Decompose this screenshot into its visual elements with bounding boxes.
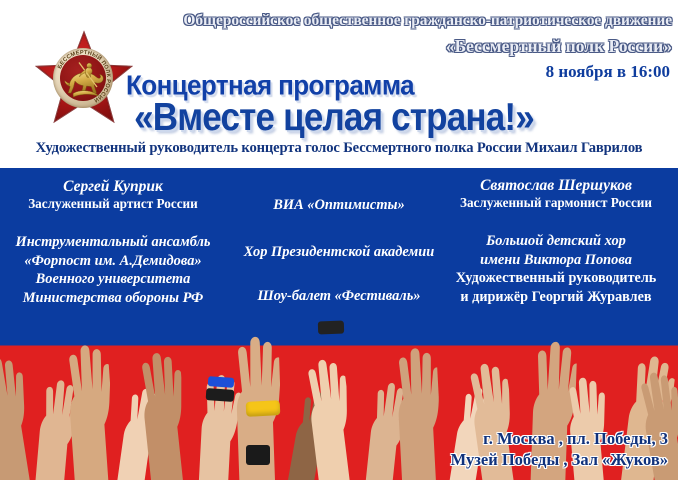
performers-column-right: Святослав Шершуков Заслуженный гармонист… bbox=[434, 168, 678, 305]
black-wristwatch-lower bbox=[246, 445, 270, 465]
artistic-director-subtitle: Художественный руководитель концерта гол… bbox=[0, 140, 678, 157]
performer-role-shershukov: Заслуженный гармонист России bbox=[434, 195, 678, 212]
performer-name-kuprik: Сергей Куприк bbox=[2, 178, 224, 196]
ensemble-forpost-line3: Военного университета bbox=[2, 270, 224, 289]
performer-presidential-academy-choir: Хор Президентской академии bbox=[224, 243, 454, 262]
performer-role-kuprik: Заслуженный артист России bbox=[2, 196, 224, 213]
ensemble-forpost: Инструментальный ансамбль «Форпост им. А… bbox=[2, 233, 224, 305]
black-wristband bbox=[206, 388, 235, 402]
performers-column-left: Сергей Куприк Заслуженный артист России … bbox=[2, 168, 224, 305]
yellow-wristband bbox=[246, 400, 281, 417]
venue-address-line2: Музей Победы , Зал «Жуков» bbox=[451, 450, 668, 470]
blue-wristband bbox=[208, 376, 235, 388]
performers-band: Сергей Куприк Заслуженный артист России … bbox=[0, 168, 678, 305]
raised-hand bbox=[382, 339, 444, 480]
performer-via-optimisty: ВИА «Оптимисты» bbox=[224, 196, 454, 215]
ensemble-forpost-line1: Инструментальный ансамбль bbox=[2, 233, 224, 252]
childrens-choir-line2: имени Виктора Попова bbox=[434, 251, 678, 270]
black-watch bbox=[318, 321, 344, 335]
performers-column-middle: ВИА «Оптимисты» Хор Президентской академ… bbox=[224, 168, 454, 305]
childrens-choir-conductor-line2: и дирижёр Георгий Журавлев bbox=[434, 288, 678, 305]
performer-show-ballet-festival: Шоу-балет «Фестиваль» bbox=[224, 287, 454, 305]
ensemble-forpost-line2: «Форпост им. А.Демидова» bbox=[2, 252, 224, 271]
childrens-choir-conductor-line1: Художественный руководитель bbox=[434, 269, 678, 287]
raised-hand bbox=[51, 334, 118, 480]
event-date-time: 8 ноября в 16:00 bbox=[546, 62, 670, 82]
childrens-choir-popov: Большой детский хор имени Виктора Попова bbox=[434, 232, 678, 269]
concert-title-line2: «Вместе целая страна!» bbox=[0, 96, 668, 140]
childrens-choir-conductor: Художественный руководитель и дирижёр Ге… bbox=[434, 269, 678, 305]
ensemble-forpost-line4: Министерства обороны РФ bbox=[2, 289, 224, 305]
movement-name-line1: Общероссийское общественное гражданско-п… bbox=[183, 12, 672, 30]
poster-header: БЕССМЕРТНЫЙ ПОЛК РОССИИ bbox=[0, 0, 678, 168]
movement-name-line2: «Бессмертный полк России» bbox=[446, 36, 672, 57]
concert-poster: БЕССМЕРТНЫЙ ПОЛК РОССИИ bbox=[0, 0, 678, 480]
childrens-choir-line1: Большой детский хор bbox=[434, 232, 678, 251]
performer-name-shershukov: Святослав Шершуков bbox=[434, 177, 678, 195]
venue-address-line1: г. Москва , пл. Победы, 3 bbox=[483, 429, 668, 449]
